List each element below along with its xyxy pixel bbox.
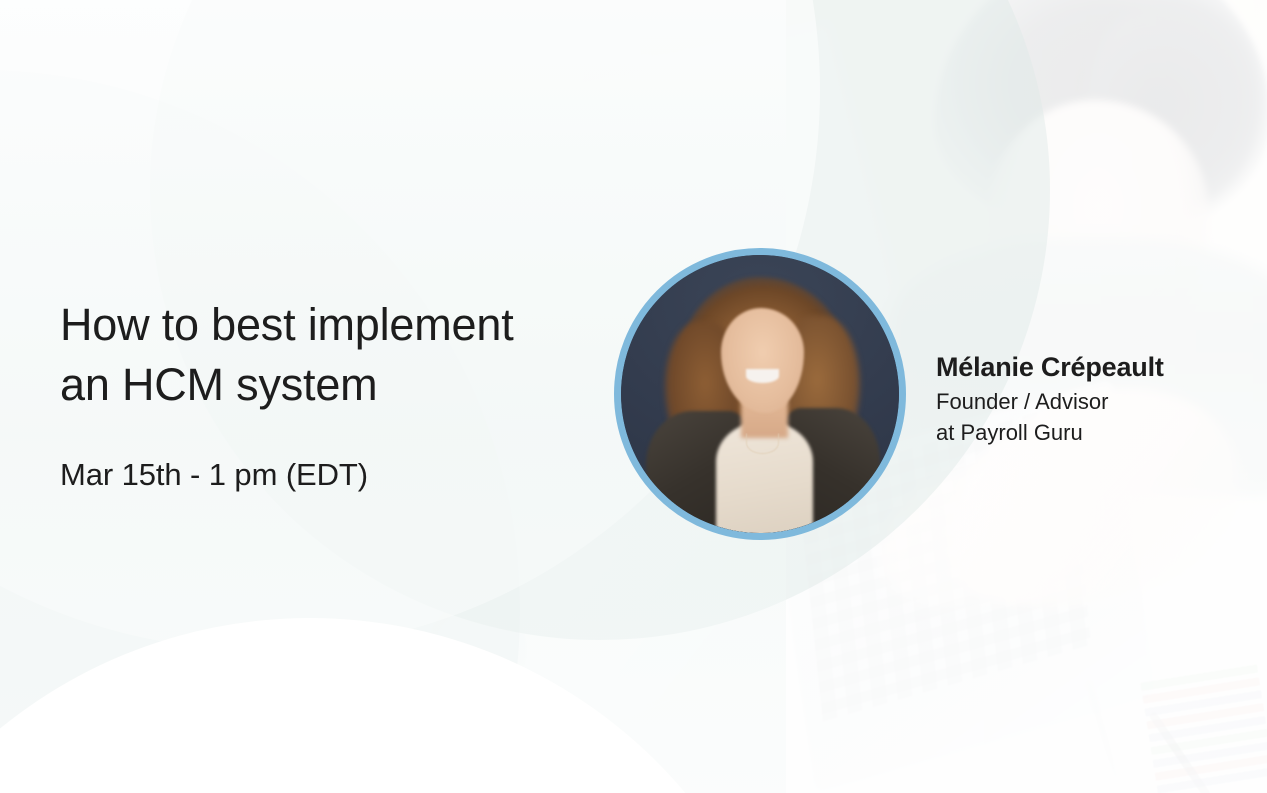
speaker-name: Mélanie Crépeault (936, 350, 1266, 384)
speaker-portrait-photo (621, 255, 899, 533)
speaker-role: Founder / Advisor at Payroll Guru (936, 386, 1266, 448)
portrait-smile (746, 369, 779, 383)
headline-block: How to best implement an HCM system (60, 295, 580, 415)
webinar-title: How to best implement an HCM system (60, 295, 580, 415)
speaker-details: Mélanie Crépeault Founder / Advisor at P… (936, 350, 1266, 448)
webinar-promo-banner: How to best implement an HCM system Mar … (0, 0, 1267, 793)
speaker-portrait (614, 248, 906, 540)
banner-content: How to best implement an HCM system Mar … (0, 0, 1267, 793)
event-datetime: Mar 15th - 1 pm (EDT) (60, 454, 368, 496)
